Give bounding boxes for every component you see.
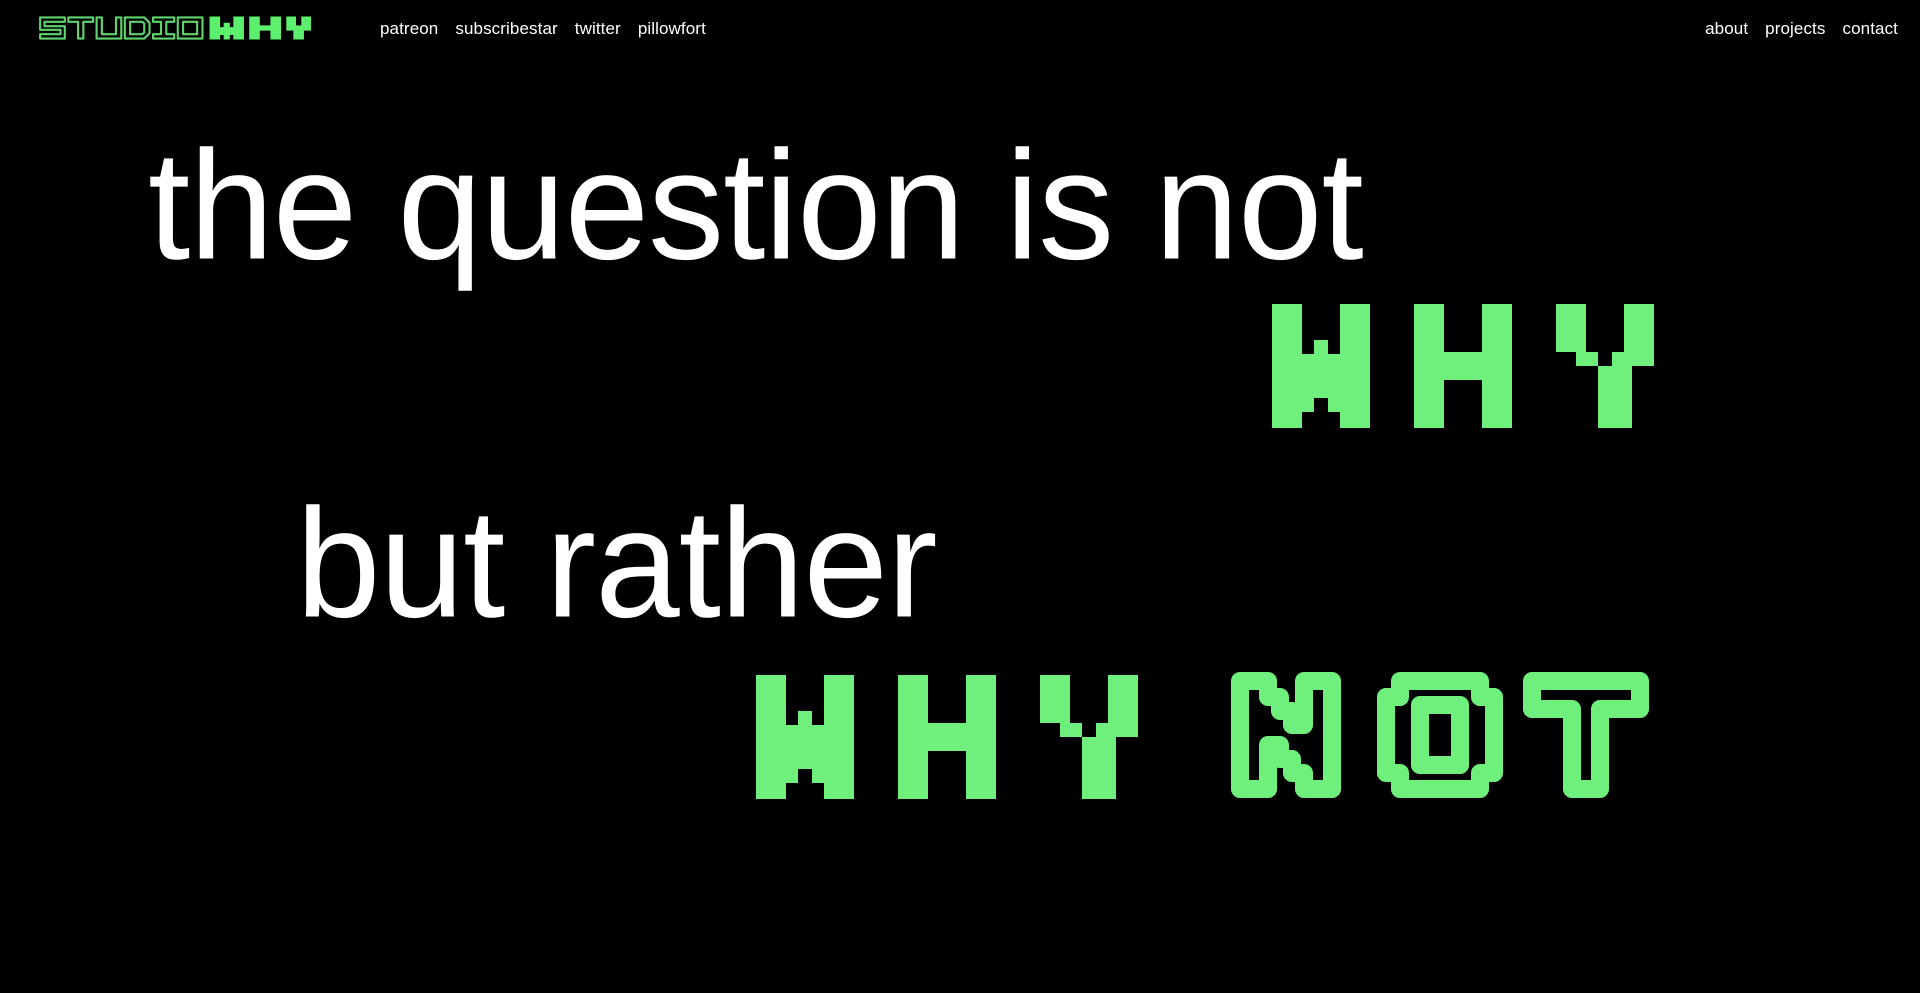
hero-pixel-word-why-solid <box>1272 304 1680 428</box>
primary-nav-right: about projects contact <box>1705 0 1898 56</box>
studiowhy-logo-icon <box>18 13 334 43</box>
hero-pixel-word-why-not <box>756 671 1650 799</box>
pixel-letter-h <box>1414 304 1538 428</box>
nav-link-contact[interactable]: contact <box>1842 20 1898 37</box>
hero-line-the-question-is-not: the question is not <box>148 128 1363 283</box>
nav-link-patreon[interactable]: patreon <box>380 20 438 37</box>
pixel-letter-w-2 <box>756 675 880 799</box>
pixel-letter-n-outline <box>1230 671 1358 799</box>
page-root: patreon subscribestar twitter pillowfort… <box>0 0 1920 993</box>
studiowhy-logo[interactable] <box>18 11 334 45</box>
nav-link-projects[interactable]: projects <box>1765 20 1825 37</box>
pixel-letter-w <box>1272 304 1396 428</box>
pixel-letter-y-2 <box>1040 675 1164 799</box>
nav-link-twitter[interactable]: twitter <box>575 20 621 37</box>
nav-link-pillowfort[interactable]: pillowfort <box>638 20 706 37</box>
pixel-letter-t-outline <box>1522 671 1650 799</box>
nav-link-about[interactable]: about <box>1705 20 1748 37</box>
nav-link-subscribestar[interactable]: subscribestar <box>455 20 557 37</box>
hero-line-but-rather: but rather <box>296 486 937 641</box>
pixel-letter-o-outline <box>1376 671 1504 799</box>
hero-section: the question is not but rather <box>0 56 1920 993</box>
primary-nav-left: patreon subscribestar twitter pillowfort <box>380 20 706 37</box>
pixel-letter-y <box>1556 304 1680 428</box>
site-header: patreon subscribestar twitter pillowfort… <box>0 0 1920 56</box>
pixel-letter-h-2 <box>898 675 1022 799</box>
